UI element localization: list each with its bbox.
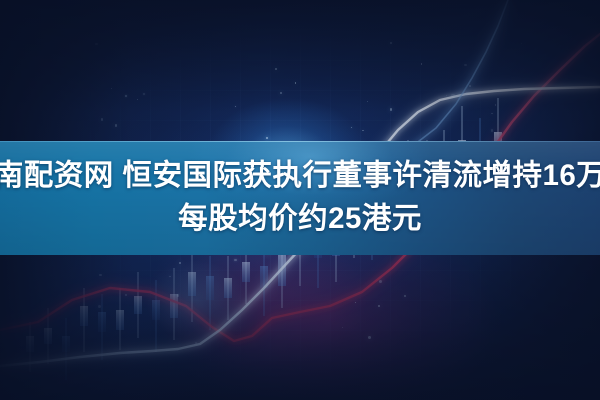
news-banner-image: 河南配资网 恒安国际获执行董事许清流增持16万股 每股均价约25港元 <box>0 0 600 400</box>
band-tint <box>0 141 600 255</box>
headline-band <box>0 141 600 255</box>
